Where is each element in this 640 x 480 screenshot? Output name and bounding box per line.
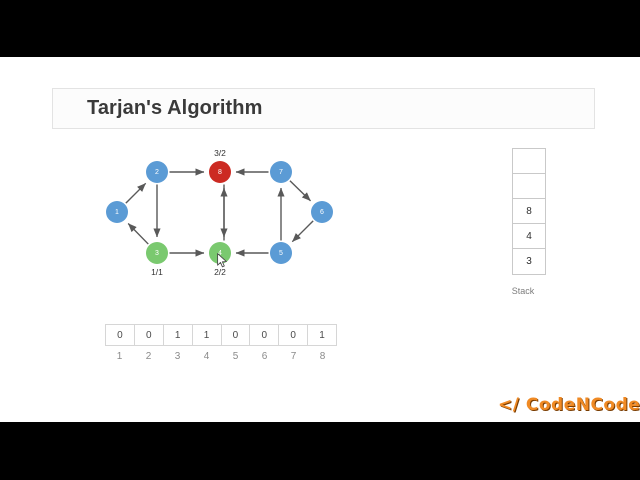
stack-caption: Stack [506, 286, 540, 296]
graph-node-8[interactable] [209, 161, 231, 183]
array-cell: 0 [279, 325, 308, 345]
array-index-label: 5 [221, 351, 250, 362]
graph-edge [292, 221, 313, 242]
screenshot-root: Tarjan's Algorithm 12345678 1/12/23/2 00… [0, 0, 640, 480]
graph-edge [290, 181, 311, 201]
stack-cell: 3 [513, 249, 545, 274]
array-index-label: 8 [308, 351, 337, 362]
graph-edge [126, 183, 146, 203]
array-cell: 1 [193, 325, 222, 345]
pointer-arrow-icon [217, 253, 228, 268]
graph-node-annotation-8: 3/2 [214, 148, 226, 158]
slide-title-bar: Tarjan's Algorithm [52, 88, 595, 129]
stack-cell [513, 149, 545, 174]
letterbox-top [0, 0, 640, 57]
graph-edges [126, 172, 313, 253]
graph-edge [128, 223, 148, 244]
array-index-label: 7 [279, 351, 308, 362]
array-value-row: 00110001 [105, 324, 337, 346]
graph-node-7[interactable] [270, 161, 292, 183]
graph-node-annotation-3: 1/1 [151, 267, 163, 275]
graph-node-2[interactable] [146, 161, 168, 183]
graph-node-1[interactable] [106, 201, 128, 223]
array-index-label: 3 [163, 351, 192, 362]
graph-node-3[interactable] [146, 242, 168, 264]
graph-node-5[interactable] [270, 242, 292, 264]
graph-nodes: 12345678 [106, 161, 333, 264]
stack-cell: 4 [513, 224, 545, 249]
stack-cell: 8 [513, 199, 545, 224]
array-cell: 1 [164, 325, 193, 345]
stack-panel: 843 Stack [512, 148, 546, 296]
array-index-row: 12345678 [105, 351, 337, 362]
array-cell: 0 [106, 325, 135, 345]
array-index-label: 4 [192, 351, 221, 362]
array-index-label: 6 [250, 351, 279, 362]
array-cell: 0 [135, 325, 164, 345]
stack-box: 843 [512, 148, 546, 275]
codencode-logo: </ CodeNCode > [498, 395, 640, 415]
low-link-array: 00110001 12345678 [105, 324, 337, 362]
array-cell: 0 [250, 325, 279, 345]
page-title: Tarjan's Algorithm [87, 97, 262, 120]
stack-cell [513, 174, 545, 199]
array-cell: 1 [308, 325, 336, 345]
array-cell: 0 [222, 325, 251, 345]
array-index-label: 2 [134, 351, 163, 362]
graph-node-annotation-4: 2/2 [214, 267, 226, 275]
array-index-label: 1 [105, 351, 134, 362]
slide-canvas: Tarjan's Algorithm 12345678 1/12/23/2 00… [0, 57, 640, 422]
graph-node-6[interactable] [311, 201, 333, 223]
letterbox-bottom [0, 422, 640, 480]
